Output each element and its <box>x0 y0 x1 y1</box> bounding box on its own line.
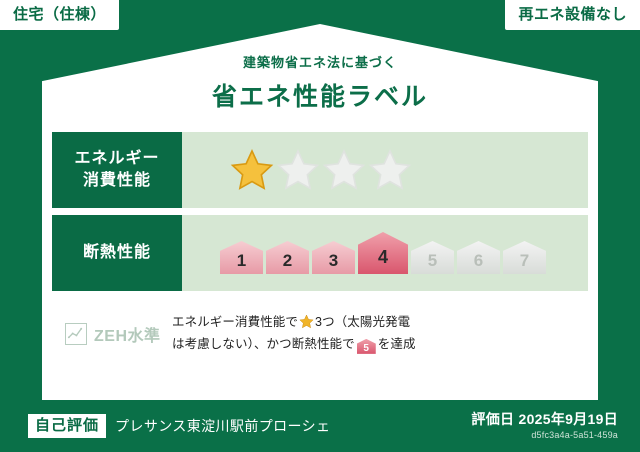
row-insulation-value: 1234567 <box>182 215 588 291</box>
inline-insulation-house-icon: 5 <box>357 339 376 354</box>
zeh-label: ZEH水準 <box>94 322 161 346</box>
insulation-level-1: 1 <box>220 241 263 274</box>
zeh-desc-line1-a: エネルギー消費性能で <box>172 315 298 329</box>
row-insulation: 断熱性能 1234567 <box>52 215 588 291</box>
inline-star-icon <box>299 314 314 329</box>
insulation-level-scale: 1234567 <box>220 232 546 274</box>
zeh-desc-line2-a: は考慮しない）、かつ断熱性能で <box>172 337 355 351</box>
insulation-level-7: 7 <box>503 241 546 274</box>
zeh-badge: ZEH水準 <box>52 322 172 346</box>
page-title: 省エネ性能ラベル <box>0 77 640 113</box>
evaluation-date: 評価日 2025年9月19日 <box>471 410 618 428</box>
footer-right-group: 評価日 2025年9月19日 d5fc3a4a-5a51-459a <box>471 410 640 442</box>
star-empty-icon <box>276 148 320 192</box>
star-rating <box>230 148 412 192</box>
row-energy-label-line1: エネルギー <box>74 148 159 170</box>
insulation-level-3: 3 <box>312 241 355 274</box>
badge-renewable-equipment: 再エネ設備なし <box>505 0 640 30</box>
insulation-level-6: 6 <box>457 241 500 274</box>
self-evaluation-badge: 自己評価 <box>28 414 106 438</box>
zeh-chart-icon <box>65 323 87 345</box>
zeh-description-text: エネルギー消費性能で3つ（太陽光発電は考慮しない）、かつ断熱性能で5を達成 <box>172 312 588 356</box>
zeh-desc-line1-b: 3つ（太陽光発電 <box>315 315 410 329</box>
row-energy-label-line2: 消費性能 <box>83 170 151 192</box>
evaluation-id: d5fc3a4a-5a51-459a <box>471 430 618 442</box>
insulation-level-5: 5 <box>411 241 454 274</box>
row-energy-value <box>182 132 588 208</box>
zeh-description-row: ZEH水準 エネルギー消費性能で3つ（太陽光発電は考慮しない）、かつ断熱性能で5… <box>52 312 588 356</box>
performance-rows: エネルギー 消費性能 断熱性能 1234567 <box>52 132 588 298</box>
building-name: プレサンス東淀川駅前プローシェ <box>115 416 330 436</box>
insulation-level-2: 2 <box>266 241 309 274</box>
star-empty-icon <box>368 148 412 192</box>
zeh-desc-line2-b: を達成 <box>378 337 416 351</box>
row-energy-label: エネルギー 消費性能 <box>52 132 182 208</box>
energy-performance-label: 住宅（住棟） 再エネ設備なし 建築物省エネ法に基づく 省エネ性能ラベル エネルギ… <box>0 0 640 452</box>
badge-building-type: 住宅（住棟） <box>0 0 119 30</box>
star-empty-icon <box>322 148 366 192</box>
label-footer: 自己評価 プレサンス東淀川駅前プローシェ 評価日 2025年9月19日 d5fc… <box>0 400 640 452</box>
title-subtitle: 建築物省エネ法に基づく <box>0 52 640 71</box>
insulation-level-4: 4 <box>358 232 408 274</box>
row-insulation-label-line1: 断熱性能 <box>83 242 151 264</box>
star-filled-icon <box>230 148 274 192</box>
label-title-block: 建築物省エネ法に基づく 省エネ性能ラベル <box>0 52 640 113</box>
row-insulation-label: 断熱性能 <box>52 215 182 291</box>
footer-left-group: 自己評価 プレサンス東淀川駅前プローシェ <box>0 414 471 438</box>
row-energy-consumption: エネルギー 消費性能 <box>52 132 588 208</box>
